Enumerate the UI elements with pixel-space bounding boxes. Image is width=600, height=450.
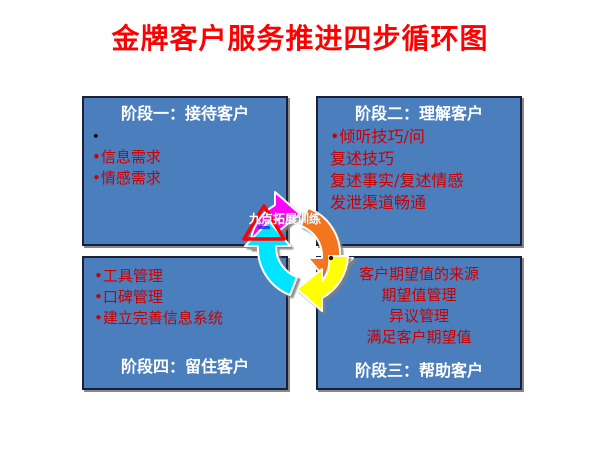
- list-item: 满足客户期望值: [318, 327, 520, 348]
- stage-three-heading: 阶段三：帮助客户: [318, 360, 520, 388]
- stage-four-heading: 阶段四：留住客户: [84, 356, 286, 388]
- list-item: •倾听技巧/问: [330, 126, 520, 148]
- list-item: •: [92, 129, 286, 147]
- cycle-diagram: [228, 188, 372, 316]
- list-item: •情感需求: [92, 168, 286, 189]
- page-title: 金牌客户服务推进四步循环图: [0, 22, 600, 56]
- junction-dot: [329, 256, 333, 260]
- slide-canvas: 金牌客户服务推进四步循环图 阶段一：接待客户 • •信息需求 •情感需求 阶段二…: [0, 0, 600, 450]
- stage-one-heading: 阶段一：接待客户: [84, 98, 286, 125]
- stage-two-heading: 阶段二：理解客户: [318, 98, 520, 125]
- list-item: •信息需求: [92, 147, 286, 168]
- list-item: 复述技巧: [330, 148, 520, 170]
